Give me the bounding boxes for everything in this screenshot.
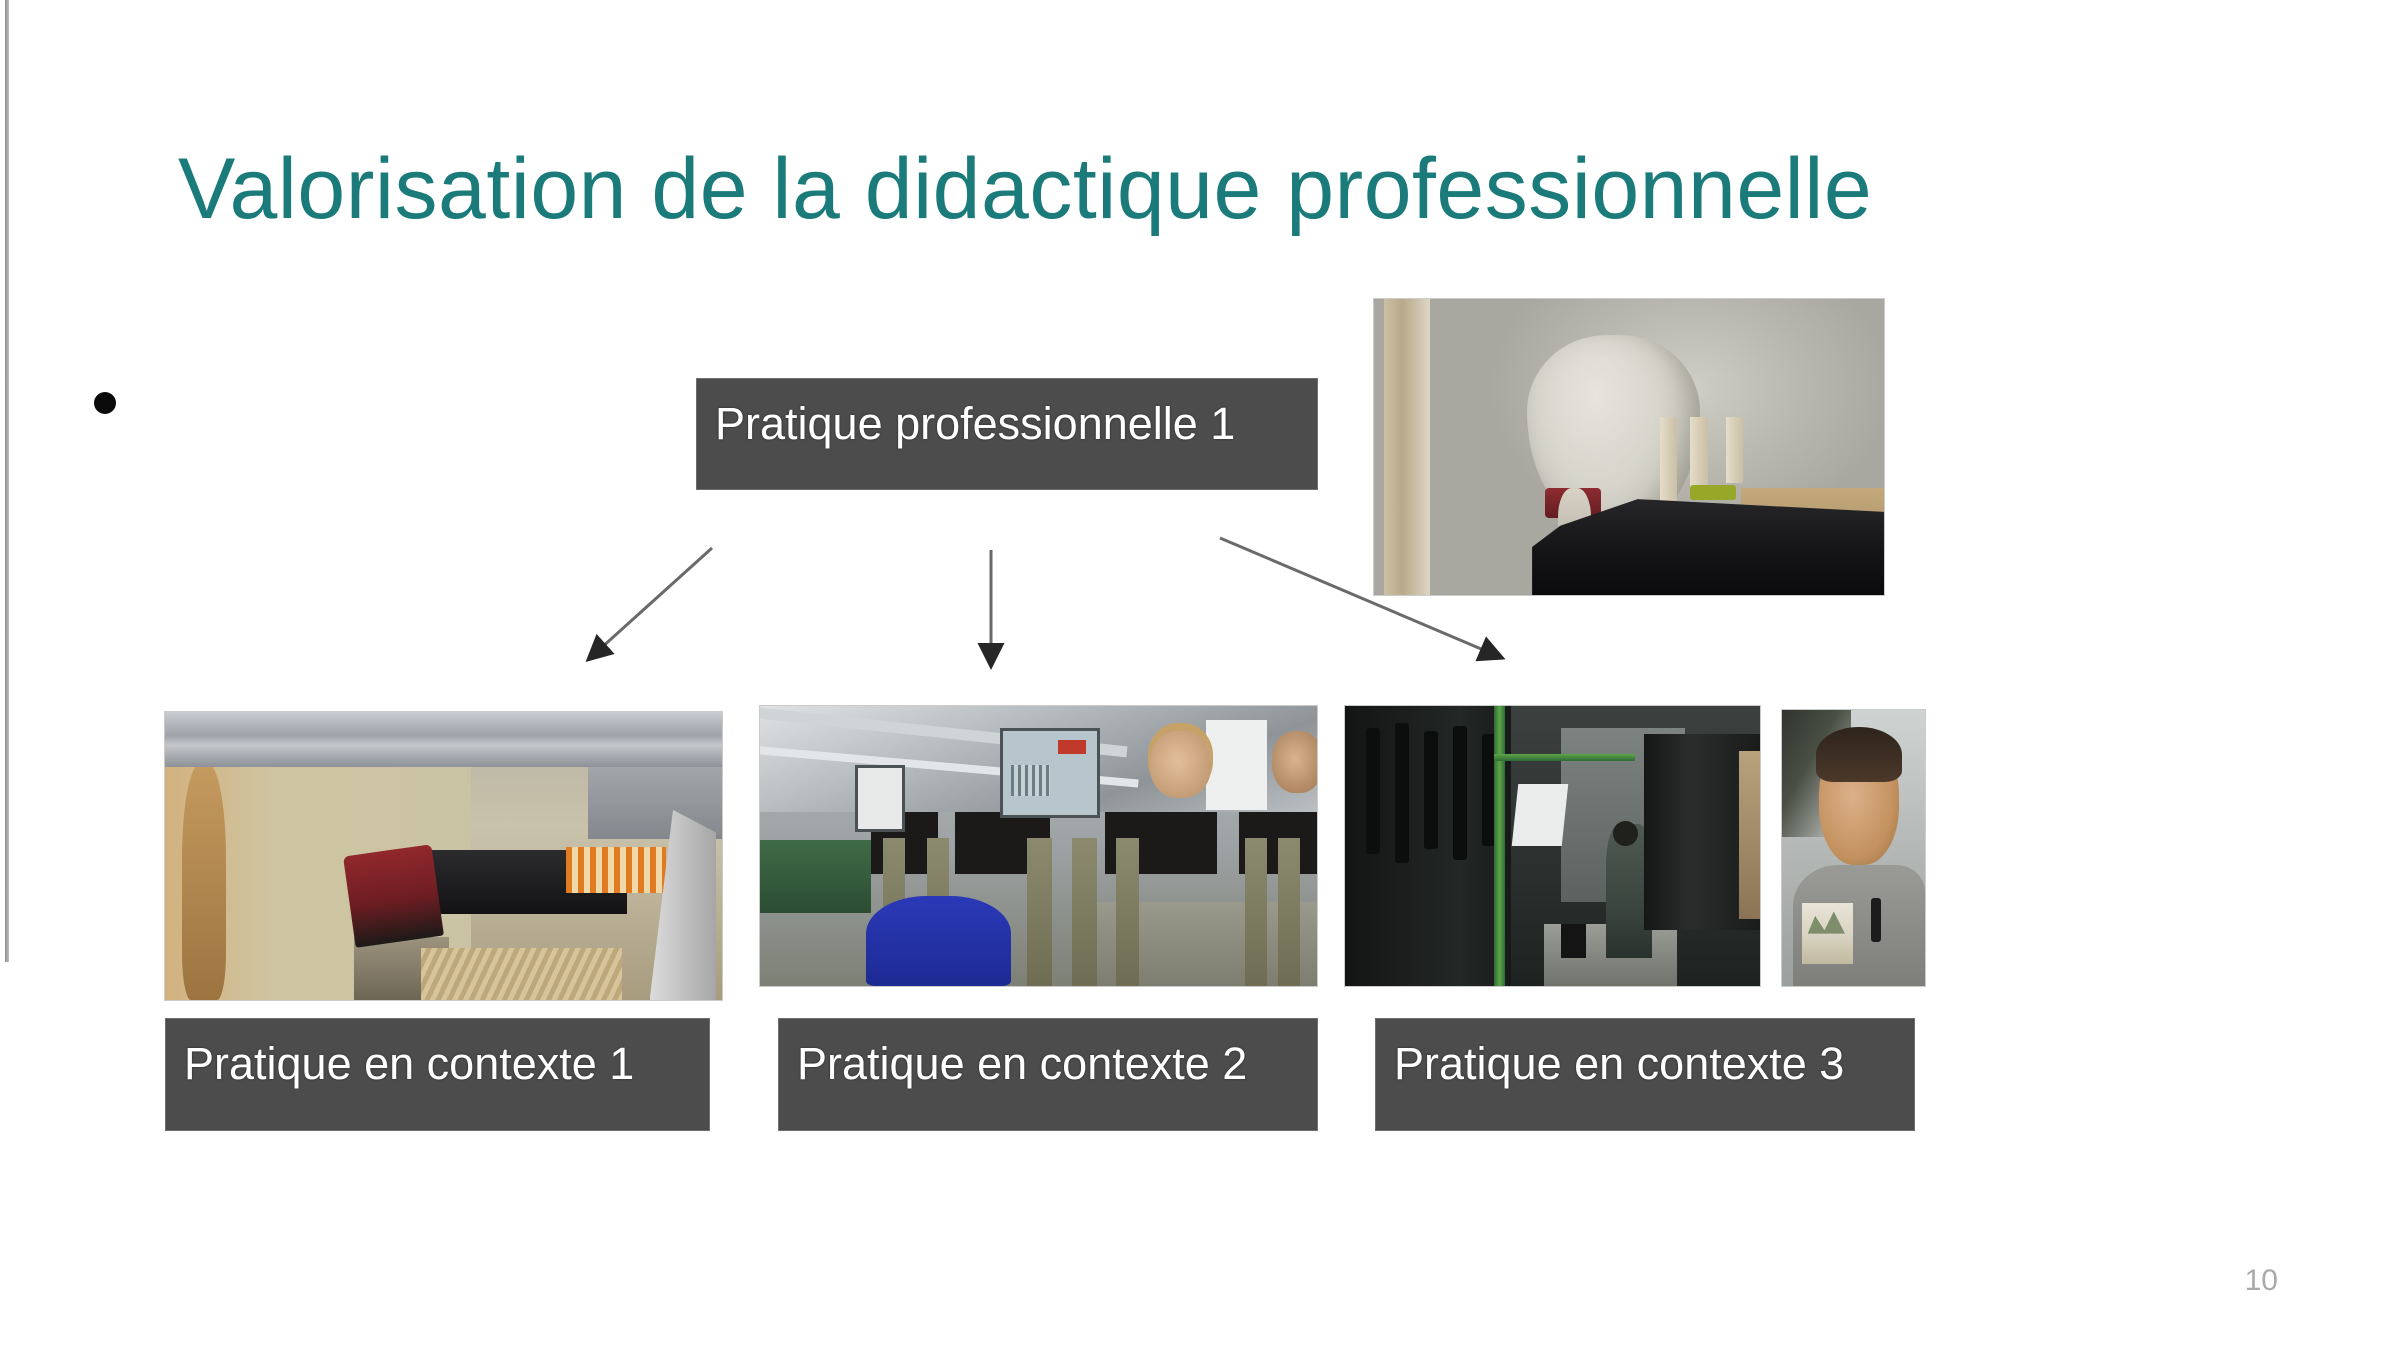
photo-detail-bucket: [1561, 924, 1586, 958]
photo-detail-green-pipe: [1494, 706, 1505, 986]
photo-detail-stall-post: [1660, 417, 1677, 506]
photo-detail-green-rail: [760, 840, 871, 913]
photo-detail-cow-leg: [1027, 838, 1052, 986]
photo-detail-logo-patch: [1802, 903, 1853, 964]
photo-detail-keypad: [1011, 765, 1050, 796]
arrow-to-context-1: [590, 548, 712, 658]
photo-farmer-portrait: [1782, 710, 1925, 986]
photo-detail-hose: [1453, 726, 1468, 860]
photo-detail-cow-leg: [1116, 838, 1138, 986]
photo-detail-brush: [566, 847, 666, 893]
box-pratique-en-contexte-2[interactable]: Pratique en contexte 2: [778, 1018, 1318, 1131]
photo-detail-cow-leg: [1245, 838, 1267, 986]
photo-detail-hose: [1424, 731, 1439, 849]
photo-detail-stall-post: [1690, 417, 1707, 494]
photo-detail-stall-post: [1726, 417, 1743, 482]
photo-detail-green-pipe: [1494, 754, 1635, 761]
box-pratique-professionnelle-1[interactable]: Pratique professionnelle 1: [696, 378, 1318, 490]
photo-context-3: [1345, 706, 1760, 986]
photo-detail-milking-cups: [343, 844, 444, 948]
photo-detail-window: [1206, 720, 1267, 810]
photo-milking-robot-udder: [1374, 299, 1884, 595]
photo-detail-cow-flank: [1739, 751, 1760, 919]
photo-context-1: [165, 712, 722, 1000]
photo-detail-lapel-microphone: [1871, 898, 1881, 942]
photo-detail-hose: [1366, 728, 1381, 854]
photo-detail-worker-head: [1613, 821, 1638, 846]
photo-detail-white-panel: [1512, 784, 1568, 846]
photo-detail-worker-blue-jacket: [866, 896, 1011, 986]
slide-canvas: Valorisation de la didactique profession…: [0, 0, 2400, 1350]
photo-context-2: [760, 706, 1317, 986]
photo-detail-hose: [1395, 723, 1410, 863]
photo-detail-post: [1384, 299, 1430, 595]
photo-detail-hair: [1816, 727, 1902, 782]
page-title: Valorisation de la didactique profession…: [178, 140, 2238, 239]
box-pratique-en-contexte-1[interactable]: Pratique en contexte 1: [165, 1018, 710, 1131]
box-pratique-en-contexte-3[interactable]: Pratique en contexte 3: [1375, 1018, 1915, 1131]
photo-detail-control-panel: [855, 765, 906, 833]
photo-detail-panel-display: [1058, 740, 1086, 754]
photo-detail-bedding: [421, 948, 622, 1000]
slide-left-edge: [5, 0, 9, 962]
photo-detail-rail: [165, 712, 722, 767]
photo-detail-robot-indicator: [1690, 485, 1736, 500]
photo-detail-cow-tail: [182, 764, 227, 1000]
photo-detail-cow-leg: [1278, 838, 1300, 986]
bullet-marker: [94, 392, 116, 414]
photo-detail-cow-leg: [1072, 838, 1097, 986]
photo-detail-person-face: [1150, 731, 1211, 798]
photo-detail-person-face: [1272, 731, 1317, 793]
page-number: 10: [2245, 1264, 2278, 1298]
